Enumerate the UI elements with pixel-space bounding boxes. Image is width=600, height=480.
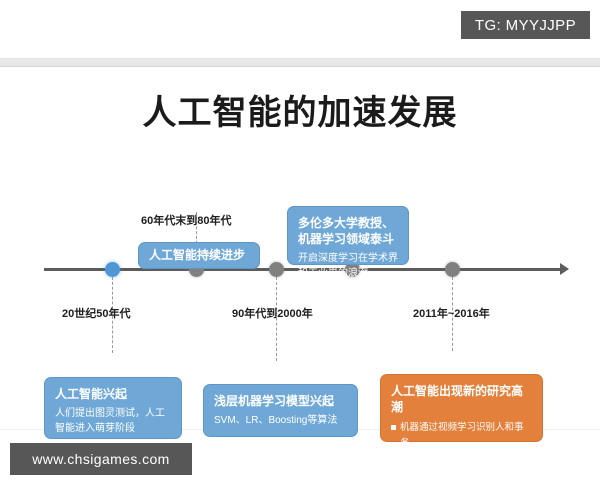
timeline-date-3: 90年代到2000年 — [232, 305, 313, 321]
timeline-date-1: 20世纪50年代 — [62, 305, 130, 321]
card-new-research-wave[interactable]: 人工智能出现新的研究高潮 机器通过视频学习识别人和事务 AlphaGo战胜围棋冠… — [380, 374, 543, 442]
watermark-url: www.chsigames.com — [10, 443, 192, 475]
card-ai-continuous-progress[interactable]: 人工智能持续进步 — [138, 242, 260, 269]
card-continuous-heading: 人工智能持续进步 — [149, 247, 245, 263]
timeline-date-2: 60年代末到80年代 — [141, 212, 231, 228]
timeline-node-3[interactable] — [269, 262, 284, 277]
card-rise-body: 人们提出图灵测试，人工智能进入萌芽阶段 — [55, 407, 171, 436]
page-title: 人工智能的加速发展 — [0, 85, 600, 134]
card-toronto-professor[interactable]: 多伦多大学教授、机器学习领域泰斗 开启深度学习在学术界和工业界的浪潮 — [287, 206, 409, 265]
card-ai-rise[interactable]: 人工智能兴起 人们提出图灵测试，人工智能进入萌芽阶段 — [44, 377, 182, 439]
card-shallow-ml[interactable]: 浅层机器学习模型兴起 SVM、LR、Boosting等算法 — [203, 384, 358, 437]
timeline-date-5: 2011年~2016年 — [413, 305, 490, 321]
list-item: AlphaGo战胜围棋冠军 — [391, 451, 532, 466]
card-rise-heading: 人工智能兴起 — [55, 386, 171, 402]
card-shallow-body: SVM、LR、Boosting等算法 — [214, 414, 347, 429]
screenshot-canvas: TG: MYYJJPP 人工智能的加速发展 20世纪50年代 60年代末到80年… — [0, 0, 600, 480]
watermark-tag: TG: MYYJJPP — [461, 11, 590, 39]
timeline-arrow-icon — [560, 263, 569, 275]
slide-top-band — [0, 59, 600, 67]
timeline-node-1[interactable] — [105, 262, 120, 277]
card-newwave-heading: 人工智能出现新的研究高潮 — [391, 383, 532, 415]
card-newwave-bullets: 机器通过视频学习识别人和事务 AlphaGo战胜围棋冠军 — [391, 420, 532, 466]
card-toronto-heading: 多伦多大学教授、机器学习领域泰斗 — [298, 215, 398, 247]
card-toronto-body: 开启深度学习在学术界和工业界的浪潮 — [298, 252, 398, 281]
list-item: 机器通过视频学习识别人和事务 — [391, 420, 532, 450]
card-shallow-heading: 浅层机器学习模型兴起 — [214, 393, 347, 409]
presentation-slide: 人工智能的加速发展 20世纪50年代 60年代末到80年代 90年代到2000年… — [0, 58, 600, 430]
timeline-node-5[interactable] — [445, 262, 460, 277]
